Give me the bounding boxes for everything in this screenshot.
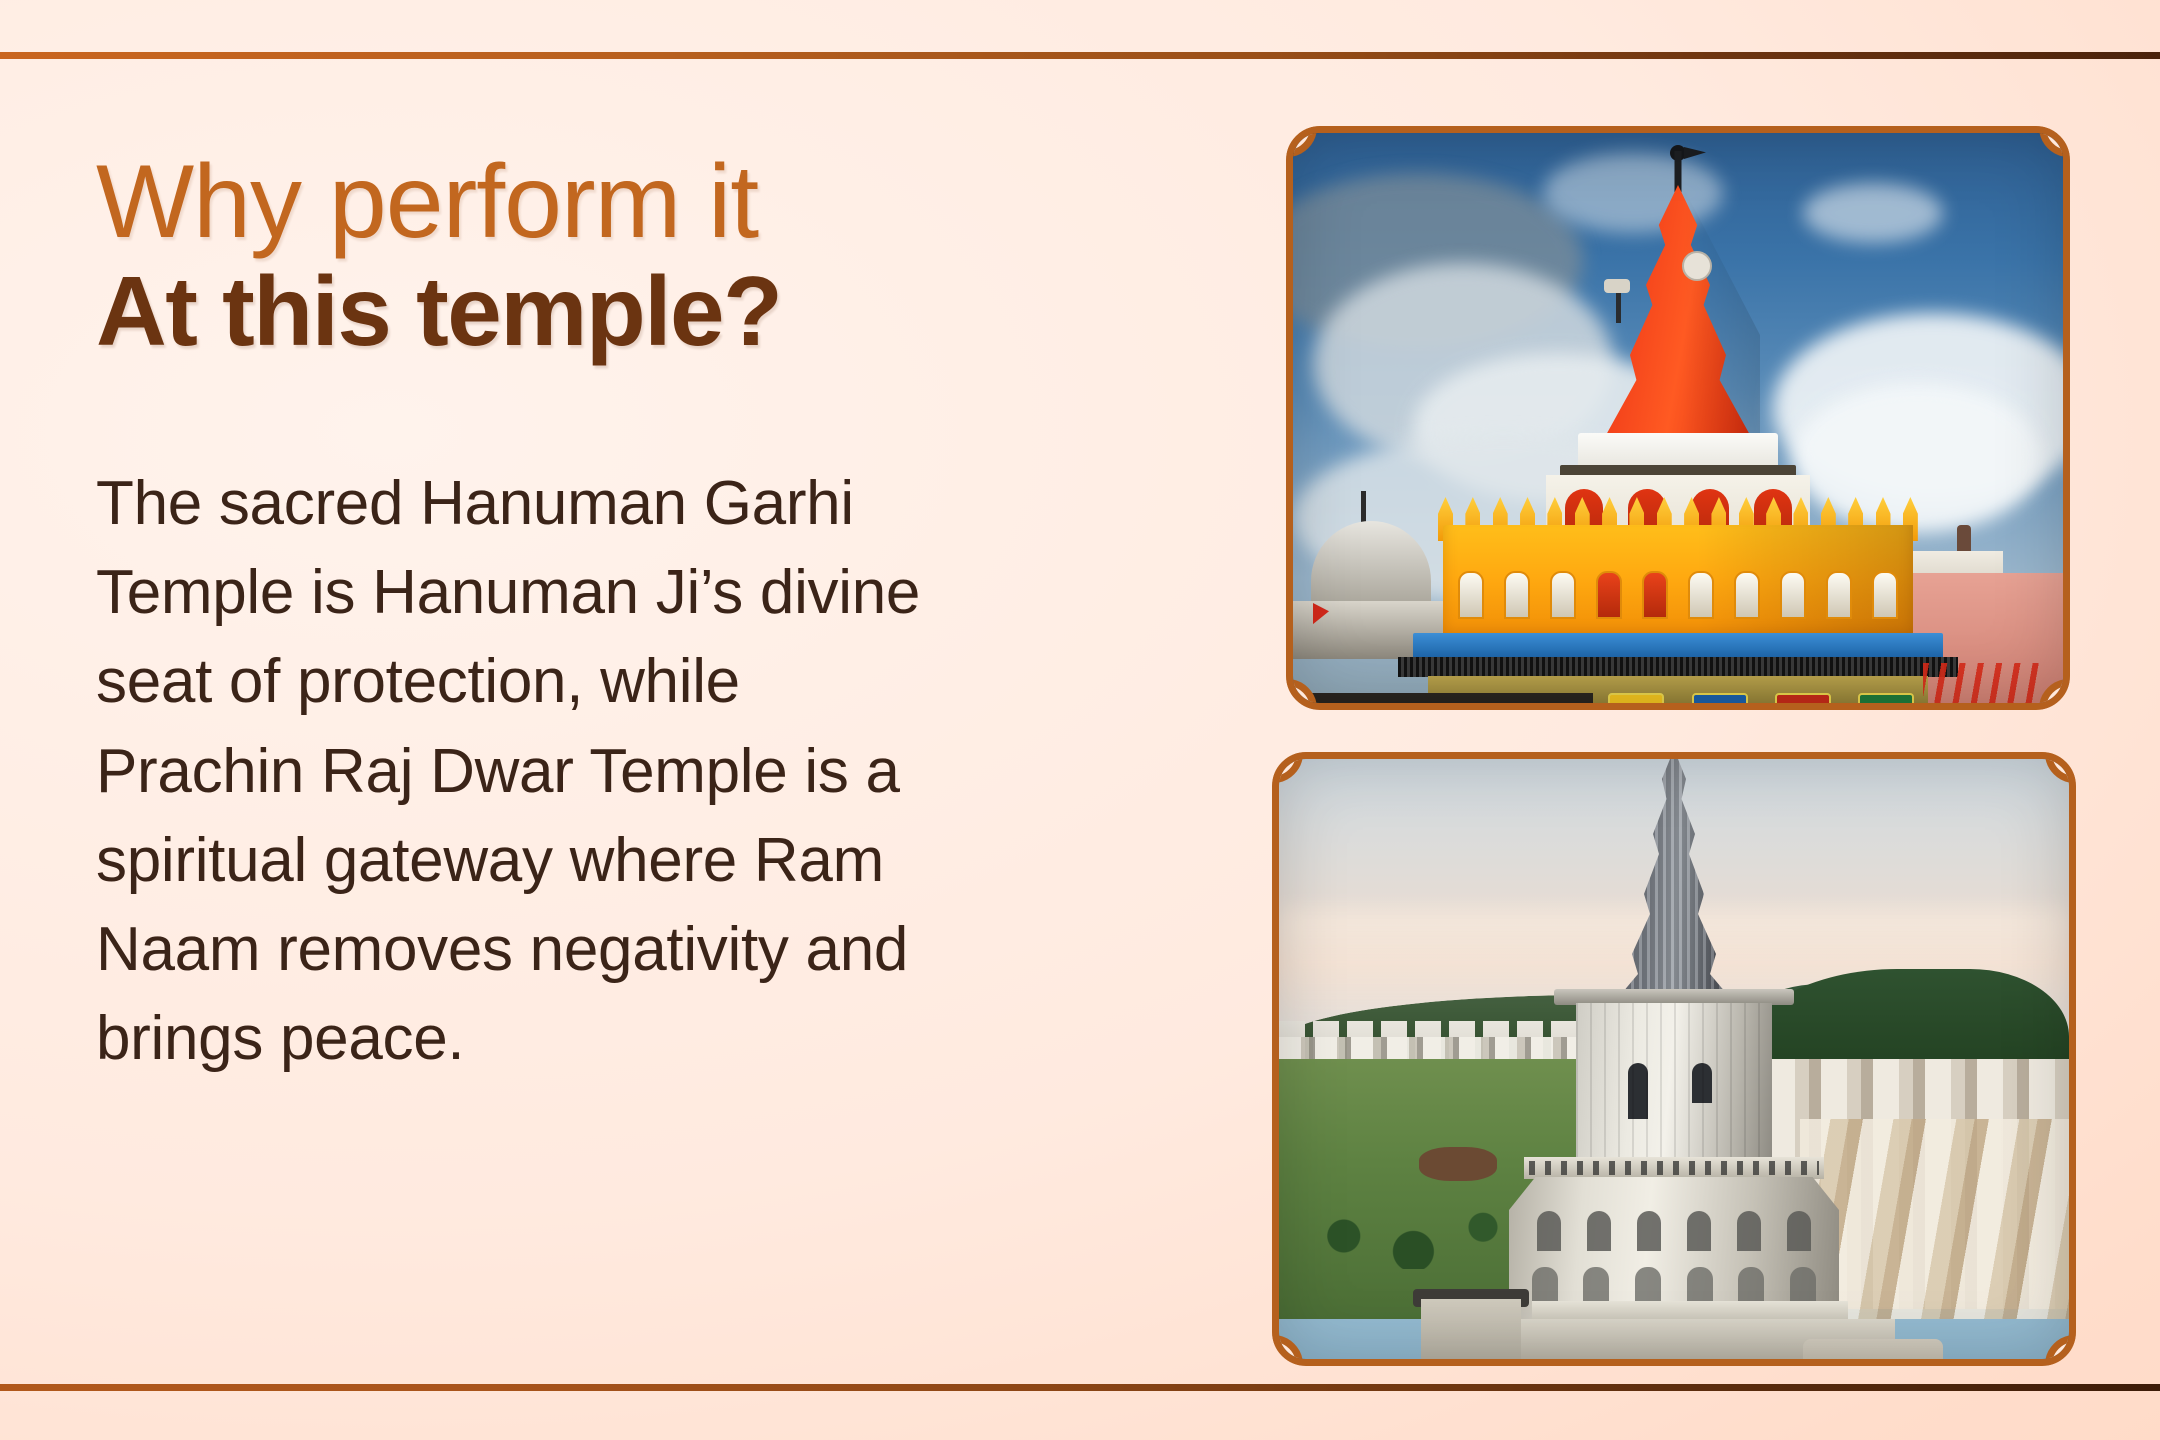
city-buildings-right <box>1800 1119 2069 1319</box>
niche <box>1587 1211 1611 1251</box>
frame-corner-bottom-right <box>2033 1323 2076 1366</box>
text-column: Why perform it At this temple? The sacre… <box>96 150 1156 1084</box>
frame-corner-bottom-left <box>1286 667 1329 710</box>
body-line: The sacred Hanuman Garhi <box>96 459 1096 548</box>
body-line: spiritual gateway where Ram <box>96 816 1096 905</box>
foreground-turret <box>1421 1299 1521 1359</box>
body-line: brings peace. <box>96 994 1096 1083</box>
side-lamp <box>1604 279 1630 293</box>
window <box>1688 571 1714 619</box>
body-line: Prachin Raj Dwar Temple is a <box>96 727 1096 816</box>
slide-root: Why perform it At this temple? The sacre… <box>0 0 2160 1440</box>
bottom-divider-rule <box>0 1384 2160 1391</box>
flag-bunting <box>1923 663 2043 703</box>
wall-panel <box>1608 693 1664 703</box>
foreground-building-right <box>1803 1339 1943 1359</box>
niche <box>1537 1211 1561 1251</box>
niche <box>1787 1211 1811 1251</box>
window <box>1458 571 1484 619</box>
body-paragraph: The sacred Hanuman Garhi Temple is Hanum… <box>96 459 1096 1084</box>
frame-corner-bottom-right <box>2027 667 2070 710</box>
frame-corner-top-right <box>2033 752 2076 795</box>
hanuman-garhi-temple-photo <box>1286 126 2070 710</box>
foreground-shadow <box>1293 693 1593 703</box>
plinth-window-row <box>1458 563 1898 619</box>
niche <box>1637 1211 1661 1251</box>
page-title-line-1: Why perform it <box>96 150 1156 254</box>
window <box>1642 571 1668 619</box>
window <box>1504 571 1530 619</box>
band-motif <box>1529 1161 1819 1175</box>
window <box>1872 571 1898 619</box>
window <box>1550 571 1576 619</box>
blue-canopy-roof <box>1413 633 1943 659</box>
wall-panel <box>1775 693 1831 703</box>
wall-panel <box>1858 693 1914 703</box>
frame-corner-bottom-left <box>1272 1323 1315 1366</box>
body-line: Naam removes negativity and <box>96 905 1096 994</box>
window <box>1780 571 1806 619</box>
cloud <box>1803 183 1943 243</box>
frame-corner-top-right <box>2027 126 2070 169</box>
niche <box>1687 1211 1711 1251</box>
body-line: seat of protection, while <box>96 637 1096 726</box>
wall-panel <box>1692 693 1748 703</box>
prachin-raj-dwar-scene <box>1279 759 2069 1359</box>
drum-fluting <box>1576 1003 1772 1163</box>
roof-eave-fringe <box>1398 657 1958 677</box>
window <box>1596 571 1622 619</box>
niche <box>1737 1211 1761 1251</box>
body-line: Temple is Hanuman Ji’s divine <box>96 548 1096 637</box>
prachin-raj-dwar-temple-photo <box>1272 752 2076 1366</box>
loudspeaker <box>1682 251 1712 281</box>
niche-row-upper <box>1524 1203 1824 1251</box>
window <box>1826 571 1852 619</box>
window <box>1734 571 1760 619</box>
top-divider-rule <box>0 52 2160 59</box>
hanuman-garhi-scene <box>1293 133 2063 703</box>
frame-corner-top-left <box>1272 752 1315 795</box>
frame-corner-top-left <box>1286 126 1329 169</box>
page-title-line-2: At this temple? <box>96 260 1156 363</box>
